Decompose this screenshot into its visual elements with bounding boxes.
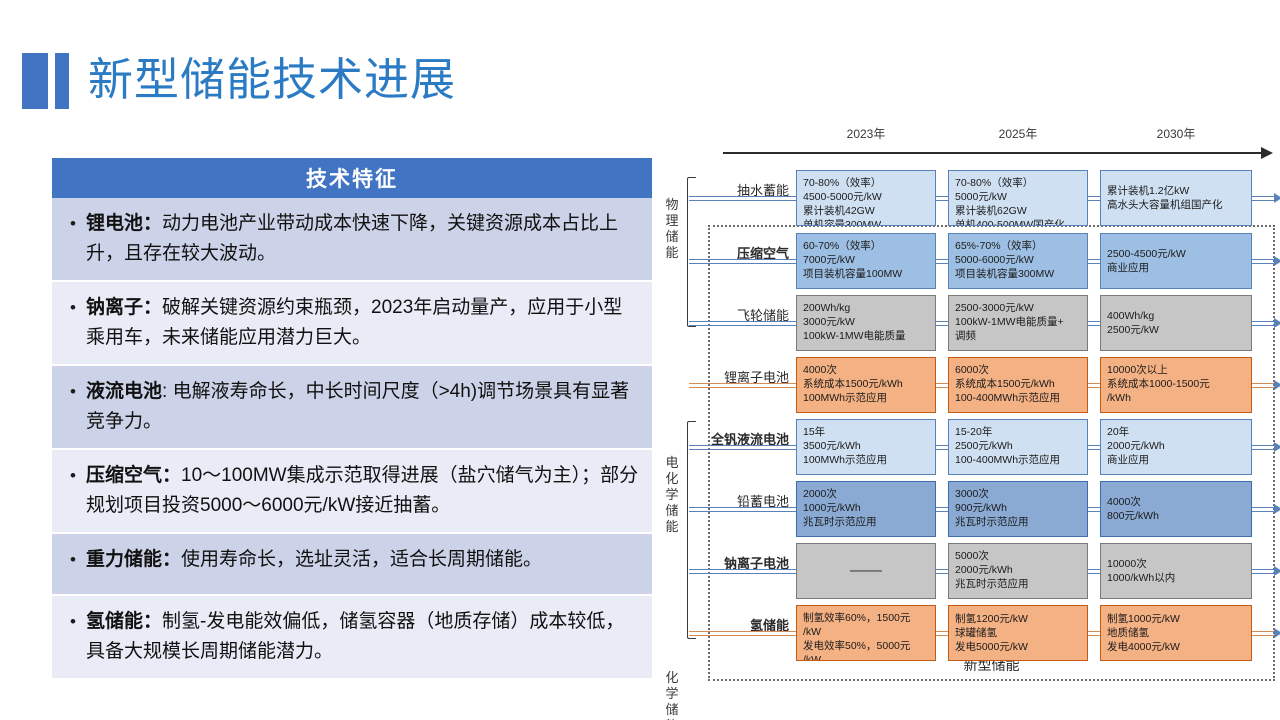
row-connector bbox=[936, 445, 948, 450]
row-connector bbox=[936, 321, 948, 326]
feature-text: 压缩空气：10～100MW集成示范取得进展（盐穴储气为主）；部分规划项目投资50… bbox=[86, 461, 640, 521]
row-connector bbox=[1088, 507, 1100, 512]
row-arrow-icon bbox=[1274, 256, 1280, 266]
roadmap-cell: 4000次系统成本1500元/kWh100MWh示范应用 bbox=[796, 357, 936, 413]
roadmap-row: 锂离子电池4000次系统成本1500元/kWh100MWh示范应用6000次系统… bbox=[663, 357, 1275, 413]
roadmap-cell: 2500-3000元/kW100kW-1MW电能质量+调频 bbox=[948, 295, 1088, 351]
row-arrow-icon bbox=[1274, 442, 1280, 452]
roadmap-cell-line: 100-400MWh示范应用 bbox=[955, 391, 1081, 405]
roadmap-cell: 400Wh/kg2500元/kW bbox=[1100, 295, 1252, 351]
roadmap-cell-line: 7000元/kW bbox=[803, 253, 929, 267]
roadmap-cell-line: 制氢1000元/kW bbox=[1107, 612, 1245, 626]
roadmap-row: 全钒液流电池15年3500元/kWh100MWh示范应用15-20年2500元/… bbox=[663, 419, 1275, 475]
feature-text: 氢储能：制氢-发电能效偏低，储氢容器（地质存储）成本较低，具备大规模长周期储能潜… bbox=[86, 607, 640, 667]
roadmap-cell: 70-80%（效率）4500-5000元/kW累计装机42GW单机容量300MW bbox=[796, 170, 936, 226]
roadmap-cell-line: 70-80%（效率） bbox=[803, 176, 929, 190]
roadmap-cell-line: 商业应用 bbox=[1107, 453, 1245, 467]
row-connector bbox=[1252, 569, 1274, 574]
year-label: 2023年 bbox=[847, 125, 886, 142]
roadmap-cell-line: 5000次 bbox=[955, 549, 1081, 563]
roadmap-cell-line: 2000元/kWh bbox=[955, 563, 1081, 577]
roadmap-cell-line: 兆瓦时示范应用 bbox=[803, 515, 929, 529]
roadmap-cell-line: 4000次 bbox=[1107, 495, 1245, 509]
roadmap-cell: 累计装机1.2亿kW高水头大容量机组国产化 bbox=[1100, 170, 1252, 226]
roadmap-cell-line: 20年 bbox=[1107, 425, 1245, 439]
feature-list: •锂电池：动力电池产业带动成本快速下降，关键资源成本占比上升，且存在较大波动。•… bbox=[52, 198, 652, 680]
feature-text: 重力储能：使用寿命长，选址灵活，适合长周期储能。 bbox=[86, 545, 640, 575]
roadmap-cell-line: 100MWh示范应用 bbox=[803, 453, 929, 467]
row-connector bbox=[1252, 631, 1274, 636]
feature-panel-header: 技术特征 bbox=[52, 158, 652, 198]
row-connector bbox=[689, 383, 796, 388]
row-connector bbox=[936, 569, 948, 574]
roadmap-diagram: 2023年2025年2030年 新型储能 物理储能电化学储能化学储能 抽水蓄能7… bbox=[663, 125, 1275, 695]
roadmap-cell: 制氢1000元/kW地质储氢发电4000元/kW bbox=[1100, 605, 1252, 661]
row-connector bbox=[1252, 383, 1274, 388]
roadmap-cell-line: 2500元/kWh bbox=[955, 439, 1081, 453]
bullet-icon: • bbox=[60, 293, 86, 322]
row-connector bbox=[1088, 321, 1100, 326]
roadmap-cell-line: 高水头大容量机组国产化 bbox=[1107, 198, 1245, 212]
roadmap-cell: 10000次以上系统成本1000-1500元/kWh bbox=[1100, 357, 1252, 413]
roadmap-cell-line: 2000次 bbox=[803, 487, 929, 501]
roadmap-cell-line: 4000次 bbox=[803, 363, 929, 377]
row-arrow-icon bbox=[1274, 566, 1280, 576]
roadmap-row: 抽水蓄能70-80%（效率）4500-5000元/kW累计装机42GW单机容量3… bbox=[663, 170, 1275, 226]
roadmap-cell-line: 地质储氢 bbox=[1107, 626, 1245, 640]
roadmap-cell-line: 制氢效率60%，1500元 bbox=[803, 611, 929, 625]
feature-term: 重力储能： bbox=[86, 549, 181, 570]
roadmap-cell: 5000次2000元/kWh兆瓦时示范应用 bbox=[948, 543, 1088, 599]
row-connector bbox=[936, 631, 948, 636]
roadmap-row: 压缩空气60-70%（效率）7000元/kW项目装机容量100MW65%-70%… bbox=[663, 233, 1275, 289]
roadmap-cell-line: 累计装机62GW bbox=[955, 204, 1081, 218]
roadmap-cell-line: 发电效率50%，5000元 bbox=[803, 639, 929, 653]
row-arrow-icon bbox=[1274, 318, 1280, 328]
roadmap-cell-line: 100MWh示范应用 bbox=[803, 391, 929, 405]
feature-row: •氢储能：制氢-发电能效偏低，储氢容器（地质存储）成本较低，具备大规模长周期储能… bbox=[52, 596, 652, 680]
roadmap-cell-line: 兆瓦时示范应用 bbox=[955, 577, 1081, 591]
roadmap-cell-line: 5000元/kW bbox=[955, 190, 1081, 204]
roadmap-cell-line: /kWh bbox=[1107, 391, 1245, 405]
row-connector bbox=[1088, 445, 1100, 450]
roadmap-cell-line: 3000次 bbox=[955, 487, 1081, 501]
roadmap-cell: 3000次900元/kWh兆瓦时示范应用 bbox=[948, 481, 1088, 537]
roadmap-cell: 20年2000元/kWh商业应用 bbox=[1100, 419, 1252, 475]
row-connector bbox=[689, 569, 796, 574]
title-accent-bar-thin bbox=[55, 53, 69, 109]
feature-term: 锂电池： bbox=[86, 213, 162, 234]
roadmap-cell-line: /kW bbox=[803, 653, 929, 661]
roadmap-cell: 15年3500元/kWh100MWh示范应用 bbox=[796, 419, 936, 475]
roadmap-cell-line: 2500-4500元/kW bbox=[1107, 247, 1245, 261]
row-connector bbox=[1252, 196, 1274, 201]
roadmap-cell: 制氢1200元/kW球罐储氢发电5000元/kW bbox=[948, 605, 1088, 661]
feature-term: 氢储能： bbox=[86, 611, 162, 632]
timeline-axis bbox=[723, 152, 1263, 154]
row-connector bbox=[1088, 631, 1100, 636]
roadmap-row: 飞轮储能200Wh/kg3000元/kW100kW-1MW电能质量2500-30… bbox=[663, 295, 1275, 351]
timeline-year-labels: 2023年2025年2030年 bbox=[663, 125, 1275, 147]
feature-text: 钠离子：破解关键资源约束瓶颈，2023年启动量产，应用于小型乘用车，未来储能应用… bbox=[86, 293, 640, 353]
roadmap-cell: 10000次1000/kWh以内 bbox=[1100, 543, 1252, 599]
roadmap-cell-line: 1000元/kWh bbox=[803, 501, 929, 515]
feature-row: •液流电池: 电解液寿命长，中长时间尺度（>4h)调节场景具有显著竞争力。 bbox=[52, 366, 652, 450]
feature-text: 锂电池：动力电池产业带动成本快速下降，关键资源成本占比上升，且存在较大波动。 bbox=[86, 209, 640, 269]
feature-term: 钠离子： bbox=[86, 297, 162, 318]
bullet-icon: • bbox=[60, 545, 86, 574]
row-connector bbox=[689, 259, 796, 264]
roadmap-row: 铅蓄电池2000次1000元/kWh兆瓦时示范应用3000次900元/kWh兆瓦… bbox=[663, 481, 1275, 537]
roadmap-cell-line: 系统成本1000-1500元 bbox=[1107, 377, 1245, 391]
roadmap-cell-line: 3000元/kW bbox=[803, 315, 929, 329]
roadmap-cell-line: 5000-6000元/kW bbox=[955, 253, 1081, 267]
bullet-icon: • bbox=[60, 461, 86, 490]
row-connector bbox=[689, 631, 796, 636]
roadmap-cell-line: 15年 bbox=[803, 425, 929, 439]
row-arrow-icon bbox=[1274, 193, 1280, 203]
row-connector bbox=[936, 383, 948, 388]
feature-row: •压缩空气：10～100MW集成示范取得进展（盐穴储气为主）；部分规划项目投资5… bbox=[52, 450, 652, 534]
feature-term: 压缩空气： bbox=[86, 465, 181, 486]
roadmap-cell-line: 制氢1200元/kW bbox=[955, 612, 1081, 626]
row-arrow-icon bbox=[1274, 380, 1280, 390]
feature-row: •钠离子：破解关键资源约束瓶颈，2023年启动量产，应用于小型乘用车，未来储能应… bbox=[52, 282, 652, 366]
row-connector bbox=[1088, 259, 1100, 264]
row-connector bbox=[689, 507, 796, 512]
roadmap-cell-line: 2500元/kW bbox=[1107, 323, 1245, 337]
bullet-icon: • bbox=[60, 209, 86, 238]
roadmap-cell-line: 单机400-500MW国产化 bbox=[955, 218, 1081, 226]
roadmap-cell-line: 项目装机容量100MW bbox=[803, 267, 929, 281]
roadmap-cell-line: /kW bbox=[803, 625, 929, 639]
row-connector bbox=[1252, 507, 1274, 512]
bullet-icon: • bbox=[60, 607, 86, 636]
roadmap-cell-line: —— bbox=[850, 564, 882, 578]
roadmap-cell-line: 60-70%（效率） bbox=[803, 239, 929, 253]
roadmap-cell-line: 10000次 bbox=[1107, 557, 1245, 571]
roadmap-cell: 200Wh/kg3000元/kW100kW-1MW电能质量 bbox=[796, 295, 936, 351]
row-connector bbox=[1088, 569, 1100, 574]
title-accent-bar-wide bbox=[22, 53, 48, 109]
roadmap-cell: 65%-70%（效率）5000-6000元/kW项目装机容量300MW bbox=[948, 233, 1088, 289]
roadmap-cell-line: 100-400MWh示范应用 bbox=[955, 453, 1081, 467]
roadmap-cell-line: 单机容量300MW bbox=[803, 218, 929, 226]
slide-root: 新型储能技术进展 技术特征 •锂电池：动力电池产业带动成本快速下降，关键资源成本… bbox=[0, 0, 1280, 720]
bullet-icon: • bbox=[60, 377, 86, 406]
roadmap-cell-line: 2500-3000元/kW bbox=[955, 301, 1081, 315]
feature-row: •锂电池：动力电池产业带动成本快速下降，关键资源成本占比上升，且存在较大波动。 bbox=[52, 198, 652, 282]
row-connector bbox=[936, 259, 948, 264]
roadmap-cell-line: 100kW-1MW电能质量+ bbox=[955, 315, 1081, 329]
row-connector bbox=[1088, 196, 1100, 201]
feature-row: •重力储能：使用寿命长，选址灵活，适合长周期储能。 bbox=[52, 534, 652, 596]
roadmap-cell-line: 调频 bbox=[955, 329, 1081, 343]
roadmap-cell-line: 65%-70%（效率） bbox=[955, 239, 1081, 253]
roadmap-cell-line: 800元/kWh bbox=[1107, 509, 1245, 523]
roadmap-cell-line: 15-20年 bbox=[955, 425, 1081, 439]
roadmap-row: 氢储能制氢效率60%，1500元/kW发电效率50%，5000元/kW制氢120… bbox=[663, 605, 1275, 661]
roadmap-cell-line: 发电4000元/kW bbox=[1107, 640, 1245, 654]
roadmap-cell-line: 系统成本1500元/kWh bbox=[955, 377, 1081, 391]
page-title: 新型储能技术进展 bbox=[88, 50, 456, 110]
row-connector bbox=[1252, 259, 1274, 264]
roadmap-cell-line: 10000次以上 bbox=[1107, 363, 1245, 377]
row-connector bbox=[1252, 445, 1274, 450]
roadmap-cell-line: 100kW-1MW电能质量 bbox=[803, 329, 929, 343]
year-label: 2030年 bbox=[1157, 125, 1196, 142]
feature-term: 液流电池 bbox=[86, 381, 162, 402]
roadmap-cell-line: 400Wh/kg bbox=[1107, 309, 1245, 323]
feature-text: 液流电池: 电解液寿命长，中长时间尺度（>4h)调节场景具有显著竞争力。 bbox=[86, 377, 640, 437]
roadmap-cell: 60-70%（效率）7000元/kW项目装机容量100MW bbox=[796, 233, 936, 289]
roadmap-cell: —— bbox=[796, 543, 936, 599]
row-connector bbox=[936, 507, 948, 512]
roadmap-cell-line: 发电5000元/kW bbox=[955, 640, 1081, 654]
category-label: 化学储能 bbox=[663, 670, 681, 720]
roadmap-cell: 4000次800元/kWh bbox=[1100, 481, 1252, 537]
roadmap-cell: 15-20年2500元/kWh100-400MWh示范应用 bbox=[948, 419, 1088, 475]
roadmap-cell-line: 累计装机1.2亿kW bbox=[1107, 184, 1245, 198]
roadmap-cell-line: 系统成本1500元/kWh bbox=[803, 377, 929, 391]
roadmap-cell-line: 200Wh/kg bbox=[803, 301, 929, 315]
row-arrow-icon bbox=[1274, 504, 1280, 514]
row-connector bbox=[689, 196, 796, 201]
roadmap-row: 钠离子电池——5000次2000元/kWh兆瓦时示范应用10000次1000/k… bbox=[663, 543, 1275, 599]
year-label: 2025年 bbox=[999, 125, 1038, 142]
roadmap-cell-line: 3500元/kWh bbox=[803, 439, 929, 453]
roadmap-cell-line: 商业应用 bbox=[1107, 261, 1245, 275]
row-connector bbox=[1252, 321, 1274, 326]
roadmap-cell-line: 项目装机容量300MW bbox=[955, 267, 1081, 281]
row-arrow-icon bbox=[1274, 628, 1280, 638]
roadmap-cell-line: 6000次 bbox=[955, 363, 1081, 377]
row-connector bbox=[689, 321, 796, 326]
roadmap-cell: 制氢效率60%，1500元/kW发电效率50%，5000元/kW bbox=[796, 605, 936, 661]
roadmap-cell-line: 1000/kWh以内 bbox=[1107, 571, 1245, 585]
roadmap-cell-line: 球罐储氢 bbox=[955, 626, 1081, 640]
roadmap-cell-line: 累计装机42GW bbox=[803, 204, 929, 218]
roadmap-cell-line: 2000元/kWh bbox=[1107, 439, 1245, 453]
roadmap-cell-line: 900元/kWh bbox=[955, 501, 1081, 515]
timeline-arrow-icon bbox=[1261, 147, 1273, 159]
roadmap-cell-line: 兆瓦时示范应用 bbox=[955, 515, 1081, 529]
roadmap-cell: 70-80%（效率）5000元/kW累计装机62GW单机400-500MW国产化 bbox=[948, 170, 1088, 226]
row-connector bbox=[1088, 383, 1100, 388]
roadmap-cell: 2000次1000元/kWh兆瓦时示范应用 bbox=[796, 481, 936, 537]
feature-panel: 技术特征 •锂电池：动力电池产业带动成本快速下降，关键资源成本占比上升，且存在较… bbox=[52, 158, 652, 680]
roadmap-cell: 2500-4500元/kW商业应用 bbox=[1100, 233, 1252, 289]
roadmap-cell-line: 4500-5000元/kW bbox=[803, 190, 929, 204]
row-connector bbox=[689, 445, 796, 450]
row-connector bbox=[936, 196, 948, 201]
roadmap-cell: 6000次系统成本1500元/kWh100-400MWh示范应用 bbox=[948, 357, 1088, 413]
roadmap-cell-line: 70-80%（效率） bbox=[955, 176, 1081, 190]
